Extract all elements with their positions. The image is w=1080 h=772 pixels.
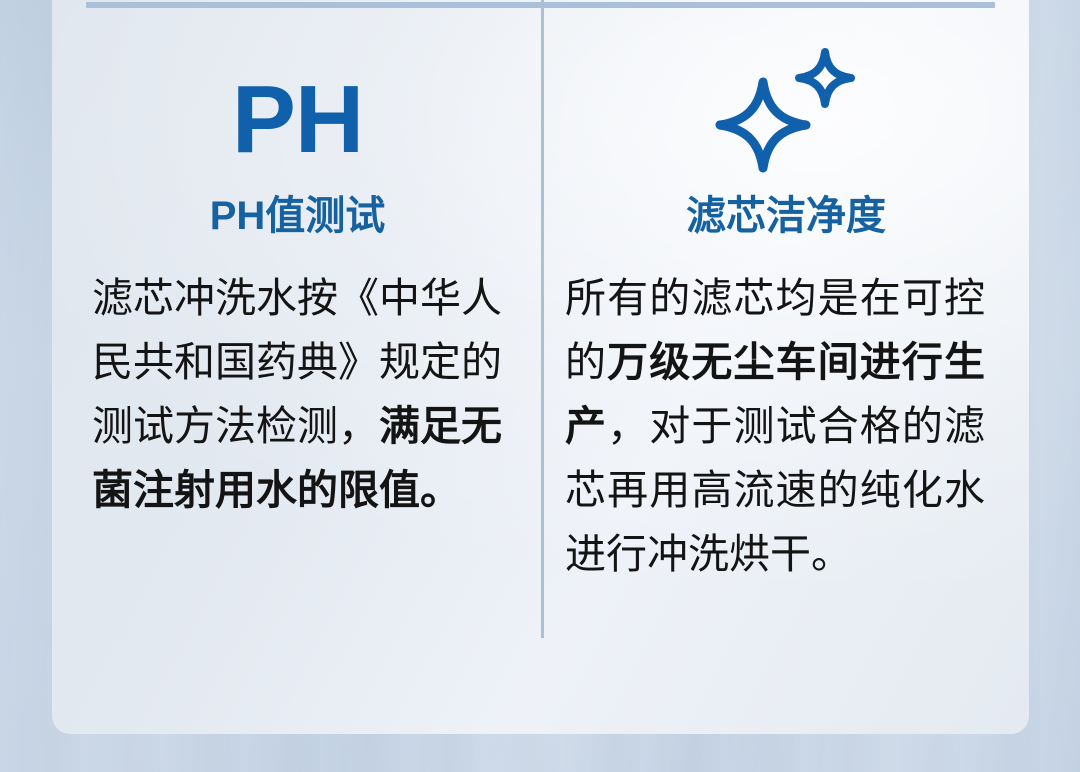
sparkle-icon (543, 46, 1029, 186)
page-root: PH PH值测试 滤芯冲洗水按《中华人民共和国药典》规定的测试方法检测，满足无菌… (0, 0, 1080, 772)
column-filter-cleanliness: 滤芯洁净度 所有的滤芯均是在可控的万级无尘车间进行生产，对于测试合格的滤芯再用高… (543, 0, 1029, 734)
filter-cleanliness-body-regular-2: ，对于测试合格的滤芯再用高流速的纯化水进行冲洗烘干。 (565, 403, 985, 577)
ph-test-title: PH值测试 (52, 192, 543, 240)
ph-wordmark: PH (52, 72, 543, 168)
filter-cleanliness-title: 滤芯洁净度 (543, 192, 1029, 240)
filter-cleanliness-header: 滤芯洁净度 (543, 0, 1029, 270)
ph-test-header: PH PH值测试 (52, 0, 543, 270)
ph-test-body: 滤芯冲洗水按《中华人民共和国药典》规定的测试方法检测，满足无菌注射用水的限值。 (92, 266, 502, 522)
filter-cleanliness-body: 所有的滤芯均是在可控的万级无尘车间进行生产，对于测试合格的滤芯再用高流速的纯化水… (565, 266, 985, 586)
column-ph-test: PH PH值测试 滤芯冲洗水按《中华人民共和国药典》规定的测试方法检测，满足无菌… (52, 0, 543, 734)
content-card: PH PH值测试 滤芯冲洗水按《中华人民共和国药典》规定的测试方法检测，满足无菌… (52, 0, 1029, 734)
two-column-layout: PH PH值测试 滤芯冲洗水按《中华人民共和国药典》规定的测试方法检测，满足无菌… (52, 0, 1029, 734)
